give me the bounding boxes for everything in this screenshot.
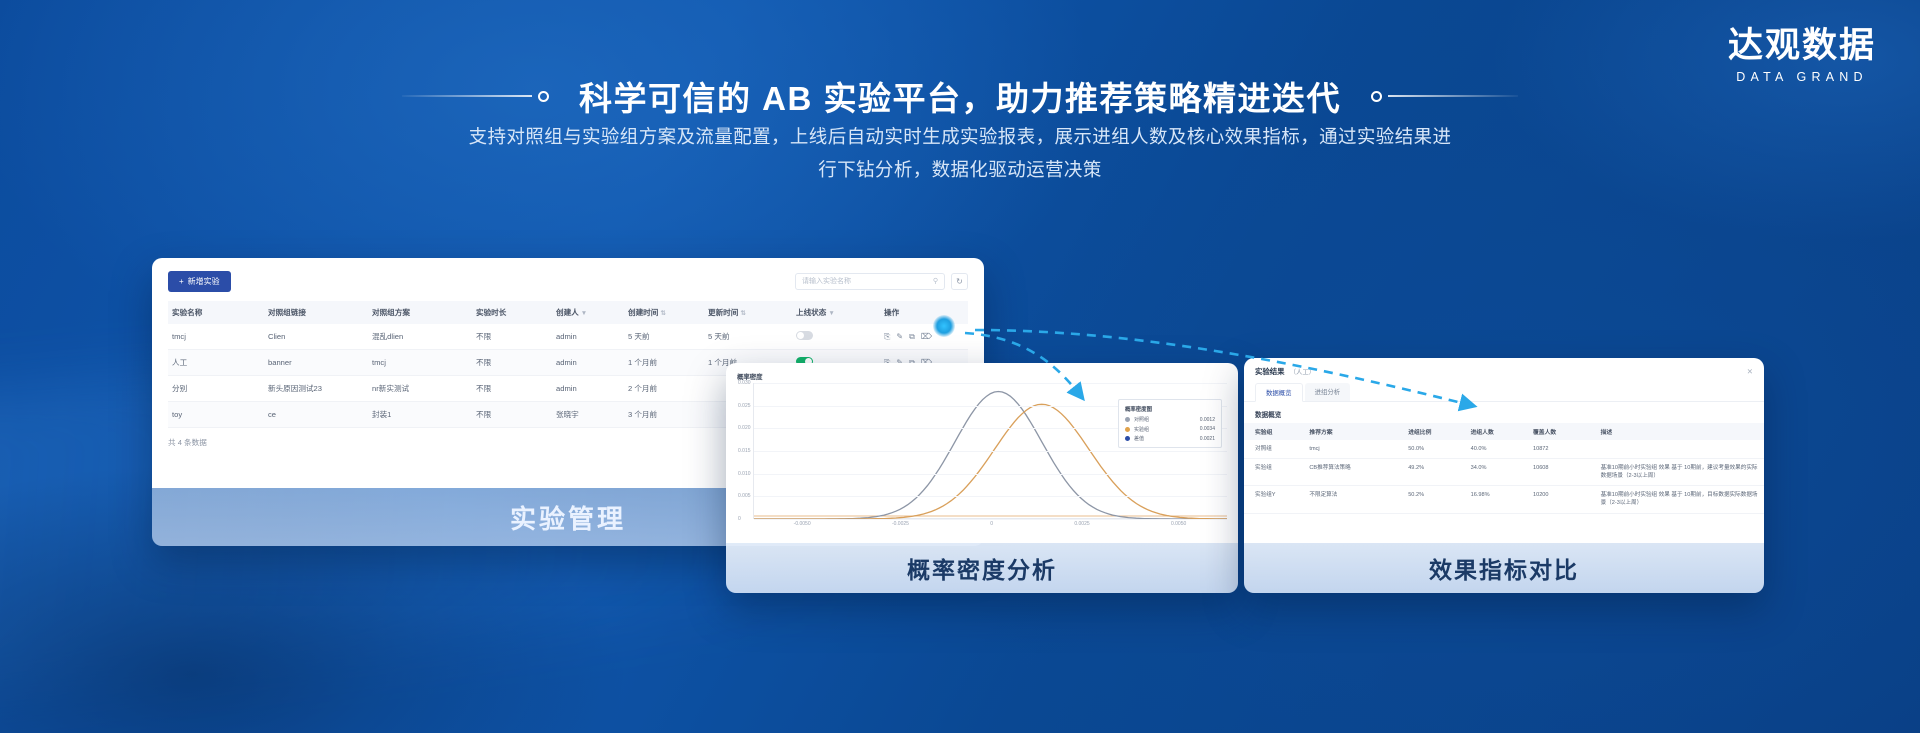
- col-online[interactable]: 上线状态▼: [792, 301, 880, 324]
- legend-item: 实验组0.0034: [1125, 426, 1215, 433]
- legend-color-dot: [1125, 436, 1130, 441]
- x-axis-labels: -0.0050-0.002500.00250.0050: [753, 521, 1227, 527]
- x-axis-tick: -0.0050: [794, 521, 811, 527]
- screenshot-cards: + 新增实验 请输入实验名称 ⚲ ↻: [0, 258, 1920, 618]
- page-title: 科学可信的 AB 实验平台，助力推荐策略精进迭代: [579, 72, 1341, 120]
- y-axis-tick: 0.020: [738, 425, 751, 431]
- metrics-col-描述: 描述: [1598, 423, 1764, 440]
- cell-desc: [1598, 440, 1764, 459]
- subtitle-line-1: 支持对照组与实验组方案及流量配置，上线后自动实时生成实验报表，展示进组人数及核心…: [370, 120, 1550, 153]
- col-creator[interactable]: 创建人▼: [552, 301, 624, 324]
- gridline: [754, 383, 1227, 384]
- cell-ratio: 50.2%: [1405, 486, 1467, 513]
- x-axis-tick: 0.0025: [1074, 521, 1089, 527]
- cell-desc: 基准10期前小时实验组 效果 基于 10期前，建议考量效果的实际数据场景（2-3…: [1598, 459, 1764, 486]
- cell-plan: nr新实测试: [368, 376, 472, 402]
- cell-name: toy: [168, 402, 264, 428]
- cell-name: 分别: [168, 376, 264, 402]
- metrics-table-header: 实验组推荐方案进组比例进组人数覆盖人数描述: [1244, 423, 1764, 440]
- metrics-table-body: 对照组tmcj50.0%40.0%10872实验组CB推荐算法策略49.2%34…: [1244, 440, 1764, 513]
- y-axis-tick: 0.005: [738, 493, 751, 499]
- cell-plan: 混乱dlien: [368, 324, 472, 350]
- metrics-col-覆盖人数: 覆盖人数: [1530, 423, 1598, 440]
- cell-plan: 封装1: [368, 402, 472, 428]
- metrics-header: 实验结果 （人工） ✕: [1244, 358, 1764, 383]
- filter-icon[interactable]: ▼: [581, 310, 587, 317]
- legend-color-dot: [1125, 427, 1130, 432]
- cell-updated: 5 天前: [704, 324, 792, 350]
- tab-进组分析[interactable]: 进组分析: [1305, 383, 1351, 401]
- cell-link: banner: [264, 350, 368, 376]
- metrics-app: 实验结果 （人工） ✕ 数据概览进组分析 数据概览 实验组推荐方案进组比例进组人…: [1244, 358, 1764, 543]
- y-axis-tick: 0.025: [738, 403, 751, 409]
- cell-plan: tmcj: [1306, 440, 1405, 459]
- cell-created: 1 个月前: [624, 350, 704, 376]
- cell-duration: 不限: [472, 324, 552, 350]
- cell-created: 5 天前: [624, 324, 704, 350]
- legend-items: 对照组0.0012实验组0.0034差值0.0021: [1125, 416, 1215, 442]
- col-duration: 实验时长: [472, 301, 552, 324]
- sort-icon[interactable]: ⇅: [740, 310, 745, 317]
- y-axis-tick: 0.015: [738, 448, 751, 454]
- online-toggle[interactable]: [796, 331, 813, 340]
- cell-name: 人工: [168, 350, 264, 376]
- sort-icon[interactable]: ⇅: [660, 310, 665, 317]
- search-input[interactable]: 请输入实验名称 ⚲: [795, 273, 945, 290]
- cell-creator: admin: [552, 324, 624, 350]
- cell-group: 实验组: [1244, 459, 1306, 486]
- col-actions: 操作: [880, 301, 968, 324]
- metrics-section-title: 数据概览: [1244, 402, 1764, 423]
- gridline: [754, 519, 1227, 520]
- x-axis-tick: 0.0050: [1171, 521, 1186, 527]
- metrics-col-进组比例: 进组比例: [1405, 423, 1467, 440]
- copy-icon[interactable]: ⧉: [909, 332, 915, 342]
- cell-desc: 基准10期前小时实验组 效果 基于 10期前，目标数据实际数据场景（2-3以上周…: [1598, 486, 1764, 513]
- cell-creator: admin: [552, 350, 624, 376]
- legend-label: 对照组: [1134, 416, 1149, 423]
- density-panel-title: 概率密度: [737, 372, 1227, 381]
- legend-value: 0.0034: [1200, 426, 1215, 432]
- metrics-subtitle: （人工）: [1290, 367, 1316, 376]
- cell-creator: 张晓宇: [552, 402, 624, 428]
- cell-plan: 不限定算法: [1306, 486, 1405, 513]
- metrics-col-推荐方案: 推荐方案: [1306, 423, 1405, 440]
- cell-cover: 10608: [1530, 459, 1598, 486]
- legend-item: 对照组0.0012: [1125, 416, 1215, 423]
- page-heading: 科学可信的 AB 实验平台，助力推荐策略精进迭代: [0, 72, 1920, 120]
- decoration-line: [402, 95, 532, 97]
- metrics-col-实验组: 实验组: [1244, 423, 1306, 440]
- cell-users: 34.0%: [1468, 459, 1530, 486]
- card-probability-density[interactable]: 概率密度 0.0300.0250.0200.0150.0100.0050 -0.…: [726, 363, 1238, 593]
- metrics-tabs: 数据概览进组分析: [1244, 383, 1764, 402]
- col-plan: 对照组方案: [368, 301, 472, 324]
- new-experiment-button[interactable]: + 新增实验: [168, 271, 231, 292]
- cell-group: 实验组Y: [1244, 486, 1306, 513]
- gridline: [754, 451, 1227, 452]
- tab-数据概览[interactable]: 数据概览: [1255, 383, 1303, 402]
- legend-label: 实验组: [1134, 426, 1149, 433]
- legend-value: 0.0012: [1200, 417, 1215, 423]
- legend-color-dot: [1125, 417, 1130, 422]
- col-link: 对照组链接: [264, 301, 368, 324]
- legend-title: 概率密度图: [1125, 405, 1215, 413]
- screenshot-density-chart: 概率密度 0.0300.0250.0200.0150.0100.0050 -0.…: [726, 363, 1238, 543]
- card-caption-probability-density: 概率密度分析: [726, 543, 1238, 593]
- cell-ratio: 50.0%: [1405, 440, 1467, 459]
- edit-icon[interactable]: ✎: [896, 332, 903, 342]
- screenshot-metrics-panel: 实验结果 （人工） ✕ 数据概览进组分析 数据概览 实验组推荐方案进组比例进组人…: [1244, 358, 1764, 543]
- cell-online-status: [792, 324, 880, 350]
- view-icon[interactable]: ⎘: [884, 332, 890, 342]
- subtitle-line-2: 行下钻分析，数据化驱动运营决策: [370, 153, 1550, 186]
- cell-ratio: 49.2%: [1405, 459, 1467, 486]
- col-name: 实验名称: [168, 301, 264, 324]
- metrics-title: 实验结果: [1255, 366, 1285, 377]
- decoration-line: [1388, 95, 1518, 97]
- close-icon[interactable]: ✕: [1747, 367, 1753, 376]
- gridline: [754, 496, 1227, 497]
- cell-link: 新头原因测试23: [264, 376, 368, 402]
- experiments-search-area: 请输入实验名称 ⚲ ↻: [795, 273, 968, 290]
- cell-users: 16.98%: [1468, 486, 1530, 513]
- cell-duration: 不限: [472, 402, 552, 428]
- cell-link: ce: [264, 402, 368, 428]
- density-app: 概率密度 0.0300.0250.0200.0150.0100.0050 -0.…: [726, 363, 1238, 543]
- x-axis-tick: 0: [990, 521, 993, 527]
- metrics-table: 实验组推荐方案进组比例进组人数覆盖人数描述 对照组tmcj50.0%40.0%1…: [1244, 423, 1764, 514]
- cell-link: Clien: [264, 324, 368, 350]
- cell-users: 40.0%: [1468, 440, 1530, 459]
- experiments-toolbar: + 新增实验 请输入实验名称 ⚲ ↻: [168, 270, 968, 292]
- decoration-dot: [1371, 91, 1382, 102]
- col-updated[interactable]: 更新时间⇅: [704, 301, 792, 324]
- table-row[interactable]: tmcjClien混乱dlien不限admin5 天前5 天前⎘✎⧉⌦: [168, 324, 968, 350]
- y-axis-tick: 0.030: [738, 380, 751, 386]
- search-placeholder: 请输入实验名称: [802, 276, 851, 286]
- cell-duration: 不限: [472, 376, 552, 402]
- card-caption-metric-comparison: 效果指标对比: [1244, 543, 1764, 593]
- plus-icon: +: [179, 277, 184, 286]
- y-axis-tick: 0.010: [738, 471, 751, 477]
- decoration-dot: [538, 91, 549, 102]
- cell-plan: tmcj: [368, 350, 472, 376]
- card-metric-comparison[interactable]: 实验结果 （人工） ✕ 数据概览进组分析 数据概览 实验组推荐方案进组比例进组人…: [1244, 358, 1764, 593]
- refresh-icon[interactable]: ↻: [951, 273, 968, 290]
- metrics-col-进组人数: 进组人数: [1468, 423, 1530, 440]
- cell-created: 2 个月前: [624, 376, 704, 402]
- legend-label: 差值: [1134, 435, 1144, 442]
- cell-duration: 不限: [472, 350, 552, 376]
- legend-value: 0.0021: [1200, 436, 1215, 442]
- delete-icon[interactable]: ⌦: [921, 332, 932, 342]
- search-icon[interactable]: ⚲: [933, 277, 938, 285]
- gridline: [754, 474, 1227, 475]
- density-legend: 概率密度图 对照组0.0012实验组0.0034差值0.0021: [1118, 399, 1222, 448]
- y-axis-tick: 0: [738, 516, 741, 522]
- cell-plan: CB推荐算法策略: [1306, 459, 1405, 486]
- action-highlight-dot: [933, 315, 955, 337]
- table-row[interactable]: 对照组tmcj50.0%40.0%10872: [1244, 440, 1764, 459]
- cell-group: 对照组: [1244, 440, 1306, 459]
- cell-cover: 10200: [1530, 486, 1598, 513]
- col-created[interactable]: 创建时间⇅: [624, 301, 704, 324]
- cell-name: tmcj: [168, 324, 264, 350]
- experiments-table-header: 实验名称 对照组链接 对照组方案 实验时长 创建人▼ 创建时间⇅ 更新时间⇅ 上…: [168, 301, 968, 324]
- heading-decoration-right: [1371, 91, 1518, 102]
- cell-created: 3 个月前: [624, 402, 704, 428]
- page-subtitle: 支持对照组与实验组方案及流量配置，上线后自动实时生成实验报表，展示进组人数及核心…: [370, 120, 1550, 186]
- x-axis-tick: -0.0025: [892, 521, 909, 527]
- table-row[interactable]: 实验组Y不限定算法50.2%16.98%10200基准10期前小时实验组 效果 …: [1244, 486, 1764, 513]
- cell-creator: admin: [552, 376, 624, 402]
- legend-item: 差值0.0021: [1125, 435, 1215, 442]
- heading-decoration-left: [402, 91, 549, 102]
- brand-name-cn: 达观数据: [1728, 26, 1876, 66]
- new-experiment-label: 新增实验: [188, 276, 220, 287]
- cell-cover: 10872: [1530, 440, 1598, 459]
- table-row[interactable]: 实验组CB推荐算法策略49.2%34.0%10608基准10期前小时实验组 效果…: [1244, 459, 1764, 486]
- filter-icon[interactable]: ▼: [828, 310, 834, 317]
